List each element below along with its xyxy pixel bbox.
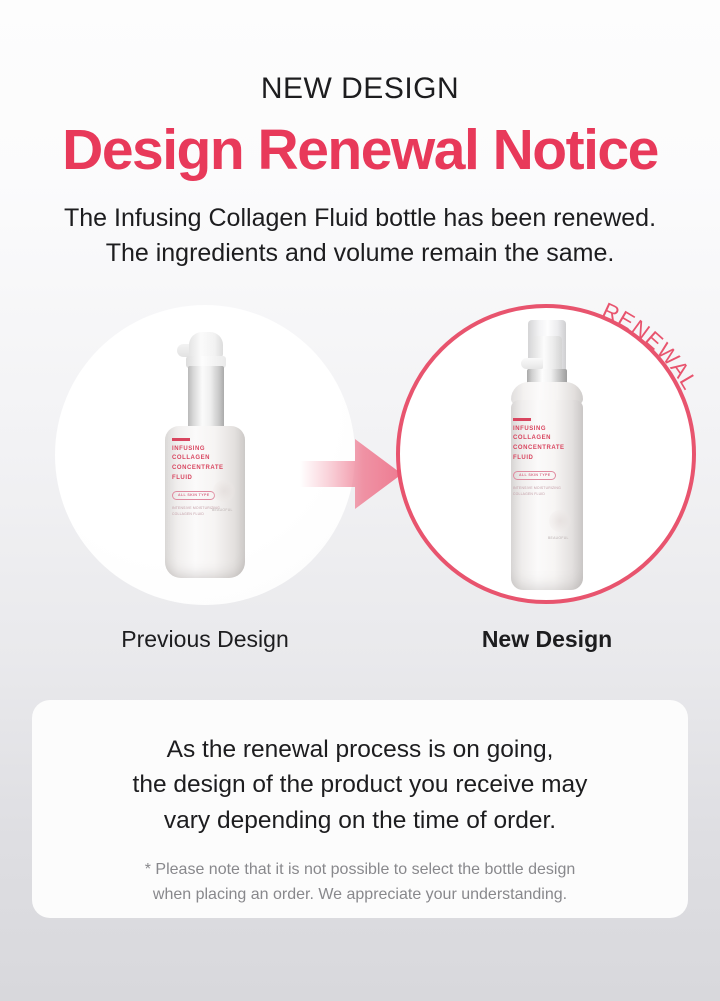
- eyebrow-label: NEW DESIGN: [0, 0, 720, 105]
- notice-main-line-1: As the renewal process is on going,: [32, 732, 688, 767]
- previous-label-product-name: INFUSING COLLAGEN CONCENTRATE FLUID: [172, 445, 234, 484]
- renewal-notice-page: NEW DESIGN Design Renewal Notice The Inf…: [0, 0, 720, 1001]
- notice-sub-line-2: when placing an order. We appreciate you…: [32, 883, 688, 908]
- previous-bottle-label: INFUSING COLLAGEN CONCENTRATE FLUID ALL …: [172, 438, 234, 518]
- bottle-seal-emblem: [549, 510, 571, 532]
- page-title: Design Renewal Notice: [0, 105, 720, 183]
- new-label-fine-print: INTENSIVE MOISTURIZING COLLAGEN FLUID: [513, 486, 571, 498]
- previous-label-brand: BEAUOFUL: [212, 508, 233, 512]
- new-bottle-label: INFUSING COLLAGEN CONCENTRATE FLUID ALL …: [513, 418, 571, 498]
- subtitle-line-2: The ingredients and volume remain the sa…: [0, 236, 720, 272]
- notice-main-line-2: the design of the product you receive ma…: [32, 767, 688, 802]
- new-label-badge: ALL SKIN TYPE: [513, 471, 556, 480]
- notice-main-line-3: vary depending on the time of order.: [32, 803, 688, 838]
- new-label-brand: BEAUOFUL: [548, 536, 569, 540]
- notice-sub-line-1: * Please note that it is not possible to…: [32, 858, 688, 883]
- previous-design-bottle: INFUSING COLLAGEN CONCENTRATE FLUID ALL …: [159, 332, 251, 578]
- notice-card: As the renewal process is on going, the …: [32, 700, 688, 918]
- pump-head-icon: [189, 332, 223, 358]
- page-header: NEW DESIGN Design Renewal Notice The Inf…: [0, 0, 720, 272]
- label-dash-icon: [513, 418, 531, 421]
- label-dash-icon: [172, 438, 190, 441]
- new-design-bottle: INFUSING COLLAGEN CONCENTRATE FLUID ALL …: [501, 320, 593, 590]
- bottle-seal-emblem: [213, 480, 235, 502]
- page-subtitle: The Infusing Collagen Fluid bottle has b…: [0, 183, 720, 272]
- pump-spout-icon: [521, 358, 543, 369]
- new-design-circle: INFUSING COLLAGEN CONCENTRATE FLUID ALL …: [392, 300, 702, 610]
- new-label-product-name: INFUSING COLLAGEN CONCENTRATE FLUID: [513, 425, 571, 464]
- subtitle-line-1: The Infusing Collagen Fluid bottle has b…: [0, 201, 720, 237]
- bottle-neck: [188, 366, 224, 428]
- new-design-caption: New Design: [392, 626, 702, 653]
- transition-arrow-icon: [300, 437, 402, 511]
- notice-disclaimer-text: * Please note that it is not possible to…: [32, 838, 688, 908]
- previous-design-caption: Previous Design: [50, 626, 360, 653]
- previous-label-badge: ALL SKIN TYPE: [172, 491, 215, 500]
- notice-main-text: As the renewal process is on going, the …: [32, 732, 688, 838]
